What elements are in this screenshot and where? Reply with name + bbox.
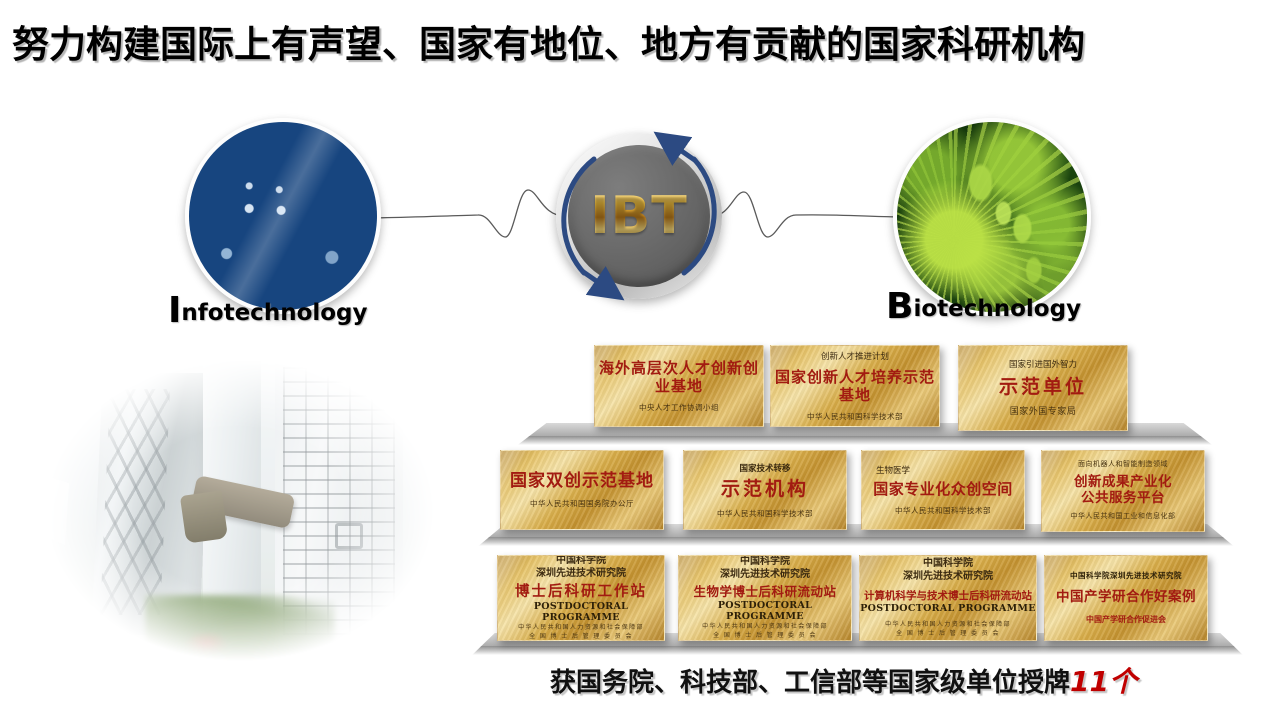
caption-count: 11个 <box>1070 665 1137 698</box>
infotechnology-label: Infotechnology <box>168 300 368 326</box>
infotechnology-initial: I <box>168 290 181 331</box>
plaque-english-text: POSTDOCTORAL PROGRAMME <box>679 600 851 622</box>
slide-root: 努力构建国际上有声望、国家有地位、地方有贡献的国家科研机构 Infotechno… <box>0 0 1261 711</box>
plaque-main-line1: 创新成果产业化 <box>1074 474 1172 490</box>
plaque-footer-text: 中华人民共和国国务院办公厅 <box>530 499 634 509</box>
plaque-dual-innovation-base[interactable]: 国家双创示范基地 中华人民共和国国务院办公厅 <box>500 450 664 530</box>
plaque-main-text: 海外高层次人才创新创业基地 <box>595 359 763 396</box>
plaque-main-text: 计算机科学与技术博士后科研流动站 <box>864 588 1032 603</box>
biotechnology-label: Biotechnology <box>886 296 1081 322</box>
plaque-header-text: 国家技术转移 <box>739 462 790 474</box>
plaque-footer-text: 中华人民共和国科学技术部 <box>717 509 813 519</box>
plaque-footer-text: 中华人民共和国科学技术部 <box>895 506 991 516</box>
plaque-main-text: 博士后科研工作站 <box>515 580 647 601</box>
plaque-main-text: 国家专业化众创空间 <box>873 480 1013 498</box>
plaque-org-line1: 中国科学院深圳先进技术研究院 <box>1070 571 1182 581</box>
plaque-main-text: 生物学博士后科研流动站 <box>693 581 836 600</box>
plaque-header-text: 创新人才推进计划 <box>821 350 889 362</box>
plaque-overseas-talent[interactable]: 海外高层次人才创新创业基地 中央人才工作协调小组 <box>594 345 764 427</box>
plaque-cs-postdoc-station[interactable]: 中国科学院 深圳先进技术研究院 计算机科学与技术博士后科研流动站 POSTDOC… <box>859 555 1037 641</box>
plaque-footer-text: 中华人民共和国科学技术部 <box>807 412 903 422</box>
plaque-industry-academia-case[interactable]: 中国科学院深圳先进技术研究院 中国产学研合作好案例 中国产学研合作促进会 <box>1044 555 1208 641</box>
shelf-front <box>470 646 1245 655</box>
plaque-biology-postdoc-station[interactable]: 中国科学院 深圳先进技术研究院 生物学博士后科研流动站 POSTDOCTORAL… <box>678 555 852 641</box>
photo-fade-overlay <box>35 345 445 675</box>
plaque-foot-line2: 全 国 博 士 后 管 理 委 员 会 <box>896 629 1000 638</box>
plaque-english-text: POSTDOCTORAL PROGRAMME <box>860 603 1036 614</box>
microbes-icon <box>897 122 1087 312</box>
biotechnology-circle[interactable] <box>893 118 1091 316</box>
squiggle-connector-left <box>360 180 565 250</box>
plaque-main-text: 国家双创示范基地 <box>510 471 654 492</box>
plaque-technology-transfer[interactable]: 国家技术转移 示范机构 中华人民共和国科学技术部 <box>683 450 847 530</box>
squiggle-connector-right <box>712 180 907 250</box>
plaque-foot-line2: 全 国 博 士 后 管 理 委 员 会 <box>529 632 633 641</box>
circuit-board-icon <box>189 122 377 310</box>
plaque-foreign-expertise-unit[interactable]: 国家引进国外智力 示范单位 国家外国专家局 <box>958 345 1128 431</box>
plaque-main-line2: 公共服务平台 <box>1081 490 1165 506</box>
infotechnology-rest: nfotechnology <box>181 300 367 326</box>
plaque-biomedical-makerspace[interactable]: 生物医学 国家专业化众创空间 中华人民共和国科学技术部 <box>861 450 1025 530</box>
plaque-main-text: 示范机构 <box>721 478 809 501</box>
page-title: 努力构建国际上有声望、国家有地位、地方有贡献的国家科研机构 <box>12 14 1085 68</box>
shelf-front <box>515 436 1215 445</box>
shelf-front <box>476 537 1236 546</box>
dna-circuit-sculpture-photo <box>35 345 445 675</box>
plaque-innovative-talent-base[interactable]: 创新人才推进计划 国家创新人才培养示范基地 中华人民共和国科学技术部 <box>770 345 940 427</box>
plaque-footer-text: 中华人民共和国工业和信息化部 <box>1071 512 1176 521</box>
plaque-foot-line1: 中华人民共和国人力资源和社会保障部 <box>702 622 828 631</box>
ibt-badge[interactable]: IBT <box>556 133 722 299</box>
plaque-org-line2: 深圳先进技术研究院 <box>536 568 626 581</box>
plaque-footer-text: 中国产学研合作促进会 <box>1086 614 1166 625</box>
biotechnology-initial: B <box>886 286 913 327</box>
bottom-caption: 获国务院、科技部、工信部等国家级单位授牌11个 <box>550 660 1137 700</box>
plaque-main-text: 国家创新人才培养示范基地 <box>771 368 939 405</box>
plaque-main-text: 示范单位 <box>999 376 1087 399</box>
plaque-header-text: 面向机器人和智能制造领域 <box>1078 460 1168 469</box>
plaque-org-line1: 中国科学院 <box>556 555 606 568</box>
plaque-org-line2: 深圳先进技术研究院 <box>720 569 810 582</box>
plaque-foot-line1: 中华人民共和国人力资源和社会保障部 <box>885 620 1011 629</box>
plaque-foot-line1: 中华人民共和国人力资源和社会保障部 <box>518 623 644 632</box>
plaque-org-line1: 中国科学院 <box>740 556 790 569</box>
plaque-footer-text: 国家外国专家局 <box>1010 407 1077 419</box>
plaque-header-text: 生物医学 <box>876 464 910 476</box>
plaque-robotics-public-platform[interactable]: 面向机器人和智能制造领域 创新成果产业化 公共服务平台 中华人民共和国工业和信息… <box>1041 450 1205 532</box>
plaque-postdoctoral-workstation[interactable]: 中国科学院 深圳先进技术研究院 博士后科研工作站 POSTDOCTORAL PR… <box>497 555 665 641</box>
plaque-english-text: POSTDOCTORAL PROGRAMME <box>498 601 664 623</box>
plaque-org-line1: 中国科学院 <box>923 558 973 571</box>
plaque-org-line2: 深圳先进技术研究院 <box>903 571 993 584</box>
plaque-foot-line2: 全 国 博 士 后 管 理 委 员 会 <box>713 631 817 640</box>
ibt-label: IBT <box>590 186 687 246</box>
plaque-main-text: 中国产学研合作好案例 <box>1056 589 1196 605</box>
ibt-core: IBT <box>568 145 710 287</box>
biotechnology-rest: iotechnology <box>913 296 1081 322</box>
plaque-footer-text: 中央人才工作协调小组 <box>639 403 719 413</box>
caption-text: 获国务院、科技部、工信部等国家级单位授牌 <box>550 668 1070 698</box>
plaque-header-text: 国家引进国外智力 <box>1009 358 1077 370</box>
infotechnology-circle[interactable] <box>185 118 381 314</box>
